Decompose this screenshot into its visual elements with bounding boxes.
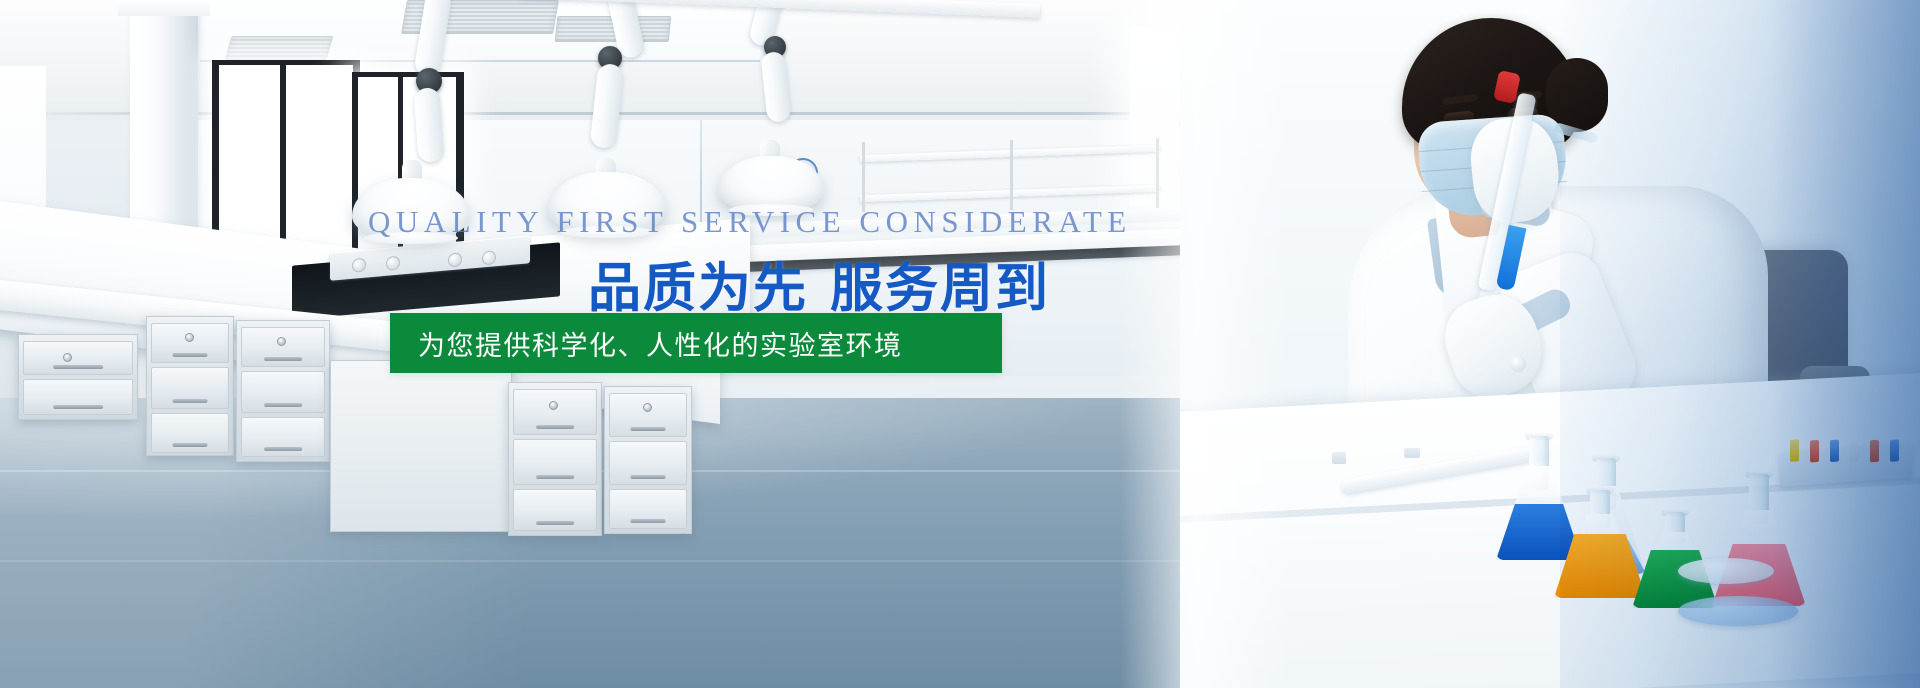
subtitle-text: 为您提供科学化、人性化的实验室环境 (418, 324, 903, 363)
english-tagline: QUALITY FIRST SERVICE CONSIDERATE (368, 204, 1132, 240)
subtitle-banner: 为您提供科学化、人性化的实验室环境 (390, 313, 1002, 373)
headline-part-2: 服务周到 (830, 258, 1050, 319)
headline: 品质为先服务周到 (588, 246, 1050, 322)
text-overlay: QUALITY FIRST SERVICE CONSIDERATE 品质为先服务… (0, 0, 1920, 688)
lab-hero-banner: QUALITY FIRST SERVICE CONSIDERATE 品质为先服务… (0, 0, 1920, 688)
headline-part-1: 品质为先 (588, 258, 808, 319)
